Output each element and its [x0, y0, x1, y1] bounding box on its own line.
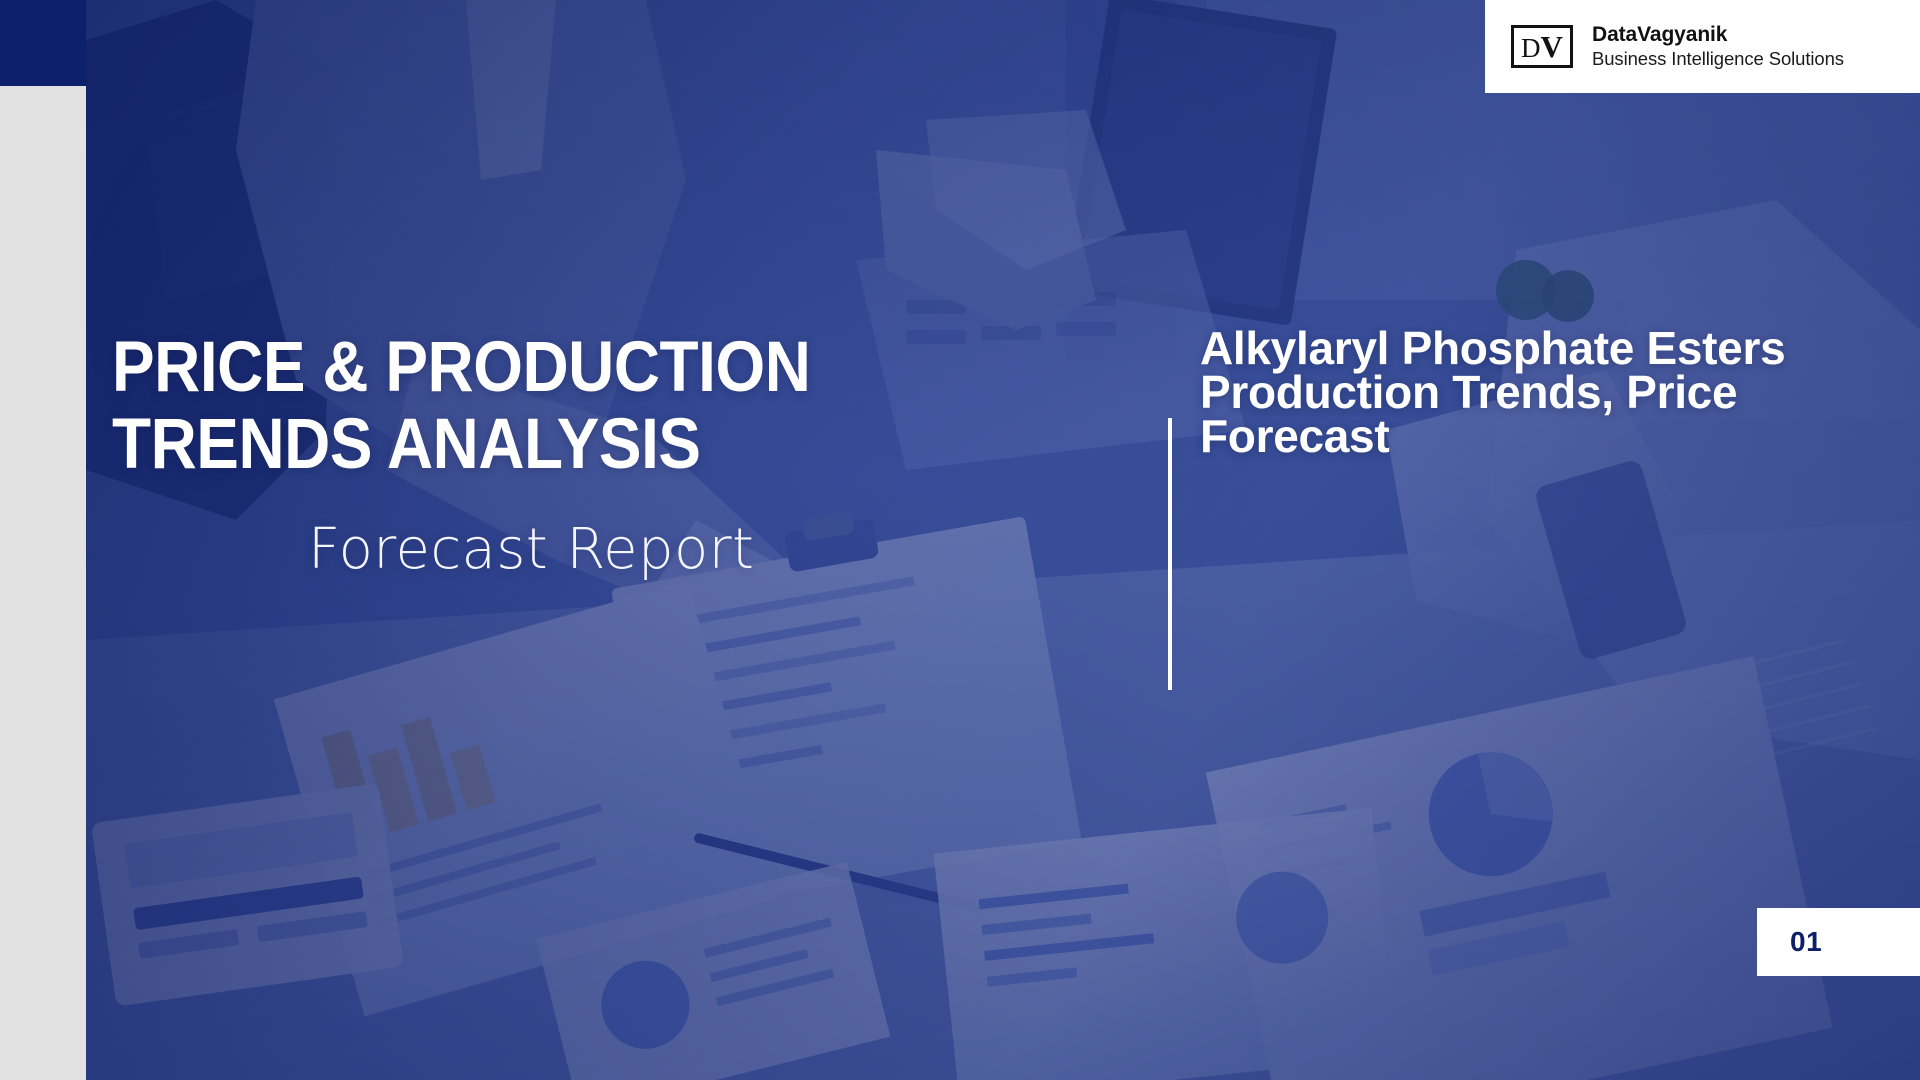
brand-tagline: Business Intelligence Solutions: [1592, 47, 1844, 71]
logo-letter-v: V: [1541, 31, 1563, 62]
datavagyanik-logo-icon: DV: [1511, 25, 1573, 68]
title-column: PRICE & PRODUCTION TRENDS ANALYSIS Forec…: [112, 330, 1172, 581]
description-column: Alkylaryl Phosphate Esters Production Tr…: [1200, 326, 1920, 458]
slide-content: PRICE & PRODUCTION TRENDS ANALYSIS Forec…: [86, 0, 1920, 1080]
vertical-divider: [1168, 418, 1172, 690]
page-title: PRICE & PRODUCTION TRENDS ANALYSIS: [112, 330, 1066, 483]
brand-text-block: DataVagyanik Business Intelligence Solut…: [1592, 22, 1844, 71]
brand-header: DV DataVagyanik Business Intelligence So…: [1485, 0, 1920, 93]
background-photo: PRICE & PRODUCTION TRENDS ANALYSIS Forec…: [86, 0, 1920, 1080]
brand-name: DataVagyanik: [1592, 22, 1844, 48]
page-number: 01: [1790, 926, 1822, 958]
presentation-slide: PRICE & PRODUCTION TRENDS ANALYSIS Forec…: [0, 0, 1920, 1080]
left-rail: [0, 0, 86, 1080]
navy-corner-block: [0, 0, 86, 86]
report-subject-heading: Alkylaryl Phosphate Esters Production Tr…: [1200, 326, 1920, 458]
slide-subtitle: Forecast Report: [308, 519, 1172, 581]
page-number-badge: 01: [1757, 908, 1920, 976]
logo-letter-d: D: [1521, 35, 1541, 62]
